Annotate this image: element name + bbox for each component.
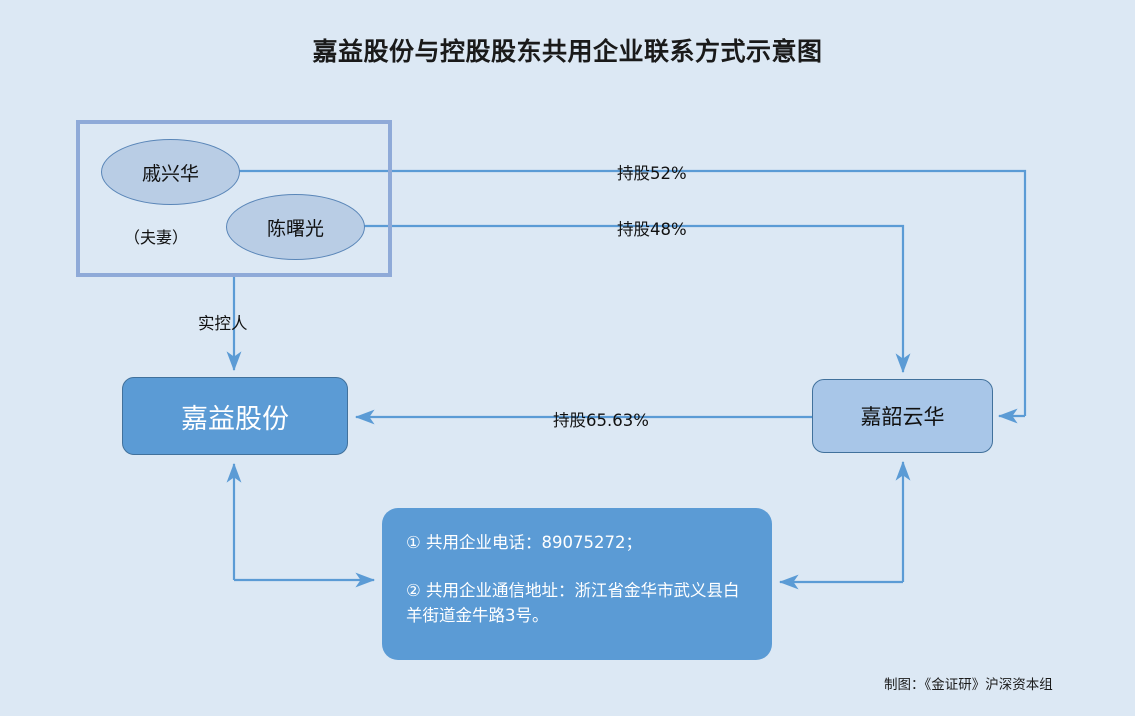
shared-contact-info-box: ① 共用企业电话：89075272； ② 共用企业通信地址：浙江省金华市武义县白… xyxy=(382,508,772,660)
edge-label-controller: 实控人 xyxy=(198,310,248,334)
edge-label-stake-6563: 持股65.63% xyxy=(553,407,649,431)
company-node-jiashao[interactable]: 嘉韶云华 xyxy=(812,379,993,453)
credit-text: 制图：《金证研》沪深资本组 xyxy=(884,673,1053,693)
edge-48-path xyxy=(363,226,903,372)
company-node-jiashao-label: 嘉韶云华 xyxy=(861,401,945,431)
page-title: 嘉益股份与控股股东共用企业联系方式示意图 xyxy=(0,32,1135,68)
controlling-shareholders-frame xyxy=(76,120,392,277)
person-name-1: 戚兴华 xyxy=(142,159,199,186)
couple-relation-label: （夫妻） xyxy=(124,224,188,248)
shared-address-line: ② 共用企业通信地址：浙江省金华市武义县白羊街道金牛路3号。 xyxy=(406,578,748,629)
person-name-2: 陈曙光 xyxy=(267,214,324,241)
shared-phone-line: ① 共用企业电话：89075272； xyxy=(406,530,748,556)
company-node-jiayi-label: 嘉益股份 xyxy=(181,397,289,436)
person-node-1[interactable]: 戚兴华 xyxy=(101,139,240,205)
company-node-jiayi[interactable]: 嘉益股份 xyxy=(122,377,348,455)
person-node-2[interactable]: 陈曙光 xyxy=(226,194,365,260)
edge-label-stake-52: 持股52% xyxy=(617,160,687,184)
edge-label-stake-48: 持股48% xyxy=(617,216,687,240)
diagram-canvas: 嘉益股份与控股股东共用企业联系方式示意图 戚兴华 xyxy=(0,0,1135,716)
